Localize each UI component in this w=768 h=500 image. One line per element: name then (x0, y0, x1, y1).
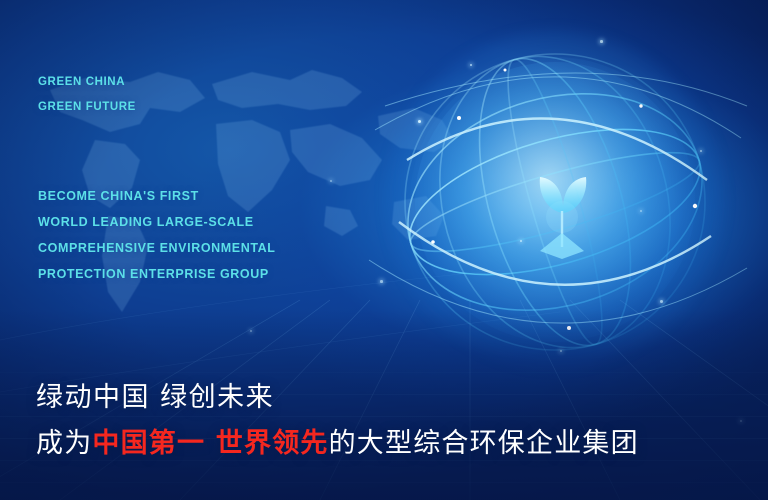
english-line: WORLD LEADING LARGE-SCALE (38, 209, 276, 235)
english-line: BECOME CHINA'S FIRST (38, 183, 276, 209)
chinese-headline-line2: 成为中国第一 世界领先的大型综合环保企业集团 (36, 421, 639, 460)
english-tagline-mid: BECOME CHINA'S FIRST WORLD LEADING LARGE… (38, 183, 276, 287)
headline-highlight: 中国第一 世界领先 (92, 428, 328, 459)
english-line: GREEN FUTURE (38, 95, 136, 120)
chinese-headline-line1: 绿动中国 绿创未来 (36, 375, 639, 414)
english-line: PROTECTION ENTERPRISE GROUP (38, 261, 276, 287)
english-line: COMPREHENSIVE ENVIRONMENTAL (38, 235, 276, 261)
english-line: GREEN CHINA (38, 70, 136, 95)
hero-banner: GREEN CHINA GREEN FUTURE BECOME CHINA'S … (0, 0, 768, 500)
english-tagline-top: GREEN CHINA GREEN FUTURE (38, 70, 136, 120)
chinese-headline: 绿动中国 绿创未来 成为中国第一 世界领先的大型综合环保企业集团 (36, 375, 639, 460)
headline-prefix: 成为 (36, 428, 92, 459)
headline-suffix: 的大型综合环保企业集团 (329, 428, 639, 459)
